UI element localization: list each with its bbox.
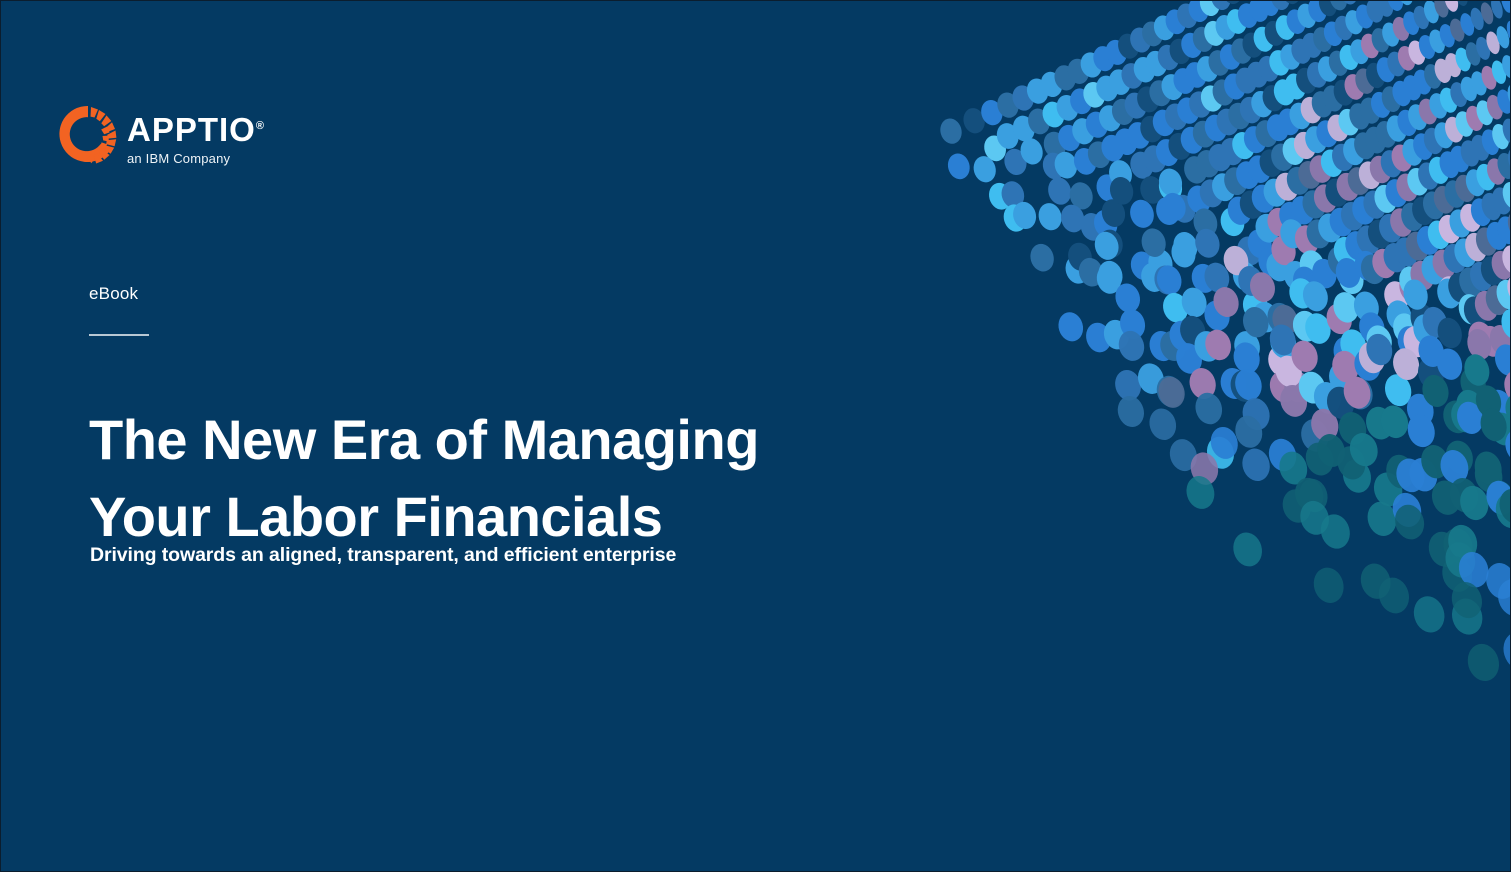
apptio-wordmark: APPTIO® an IBM Company	[127, 109, 357, 166]
apptio-wordmark-text: APPTIO®	[127, 109, 357, 147]
kicker-divider	[89, 334, 149, 336]
page-title-line-1: The New Era of Managing	[89, 401, 889, 478]
ibm-company-tagline: an IBM Company	[127, 151, 357, 166]
page-subtitle: Driving towards an aligned, transparent,…	[90, 544, 676, 567]
apptio-logo: APPTIO® an IBM Company	[57, 101, 357, 171]
registered-trademark-icon: ®	[256, 120, 264, 132]
kicker-label: eBook	[89, 284, 138, 304]
ebook-cover-page: APPTIO® an IBM Company eBook The New Era…	[0, 0, 1511, 872]
page-title-line-2: Your Labor Financials	[89, 478, 889, 555]
apptio-gear-ring-logo-icon	[57, 103, 119, 165]
page-title: The New Era of Managing Your Labor Finan…	[89, 401, 889, 555]
